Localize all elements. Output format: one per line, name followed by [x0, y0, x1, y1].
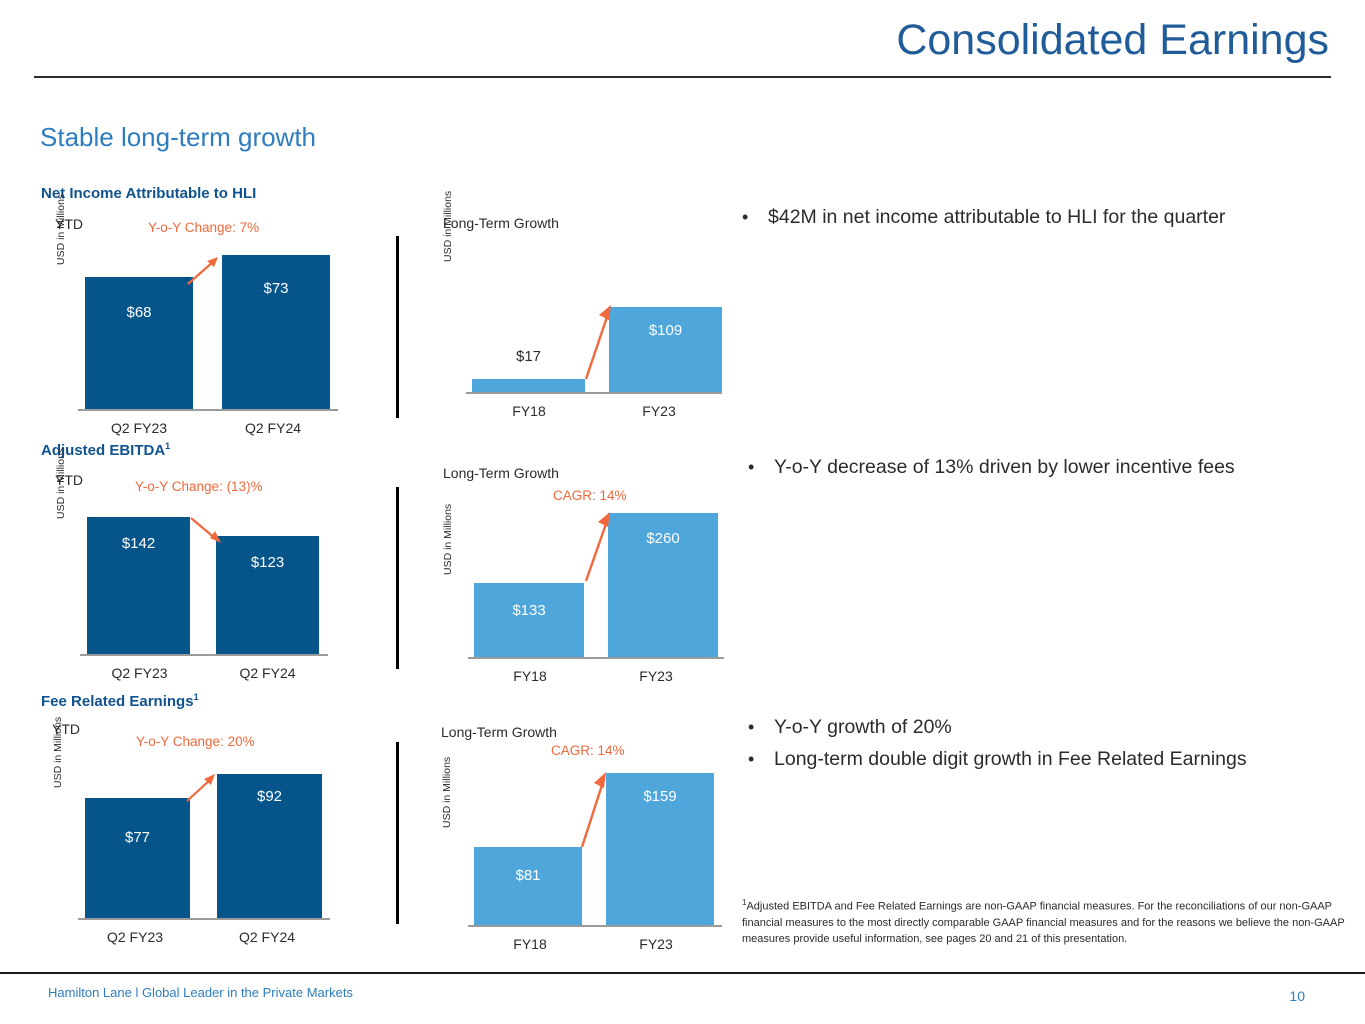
cagr-label-row3: CAGR: 14% [551, 743, 625, 758]
long-term-growth-label-row3: Long-Term Growth [441, 724, 557, 740]
y-axis-title-row2-ltg: USD in Millions [442, 504, 454, 575]
commentary-group-row1: • $42M in net income attributable to HLI… [742, 203, 1342, 235]
bullet-text: Y-o-Y growth of 20% [774, 713, 952, 741]
chart-fee-related-earnings-ytd: $77 $92 [85, 774, 322, 918]
cat-label-q2fy23-row3: Q2 FY23 [76, 929, 194, 945]
page-number: 10 [1289, 988, 1305, 1004]
bar-value-fy18-adjusted-ebitda: $133 [474, 602, 584, 619]
baseline-row1-ltg [466, 392, 722, 394]
bar-q2fy23-fee-related-earnings: $77 [85, 798, 190, 918]
bar-fy23-adjusted-ebitda: $260 [608, 513, 718, 657]
yoy-change-label-row2: Y-o-Y Change: (13)% [135, 479, 263, 494]
cat-label-fy23-row3: FY23 [598, 936, 714, 952]
baseline-row3-ytd [78, 918, 330, 920]
header-divider [34, 76, 1331, 78]
y-axis-title-row1-ltg: USD in Millions [442, 191, 454, 262]
bar-value-fy23-adjusted-ebitda: $260 [608, 530, 718, 547]
chart-title-net-income-text: Net Income Attributable to HLI [41, 185, 256, 202]
slide-canvas: Consolidated Earnings Stable long-term g… [0, 0, 1365, 1024]
cat-label-q2fy23-row2: Q2 FY23 [82, 665, 197, 681]
bar-value-q2fy23-fee-related-earnings: $77 [85, 829, 190, 846]
bar-fy23-net-income: $109 [609, 307, 722, 392]
panel-divider-row2 [396, 487, 399, 669]
bullet-item: • Y-o-Y growth of 20% [748, 713, 1288, 741]
bar-value-fy18-fee-related-earnings: $81 [474, 867, 582, 884]
bar-q2fy24-adjusted-ebitda: $123 [216, 536, 319, 654]
bullet-text: Long-term double digit growth in Fee Rel… [774, 745, 1247, 773]
bar-value-q2fy24-fee-related-earnings: $92 [217, 788, 322, 805]
chart-net-income-long-term: $17 $109 [472, 307, 722, 392]
y-axis-title-row3-ltg: USD in Millions [441, 757, 453, 828]
bar-value-fy23-net-income: $109 [609, 322, 722, 339]
bar-q2fy24-net-income: $73 [222, 255, 330, 409]
chart-title-fee-related-earnings-footnote-marker: 1 [194, 692, 199, 702]
chart-adjusted-ebitda-long-term: $133 $260 [474, 513, 718, 657]
bullet-item: • Y-o-Y decrease of 13% driven by lower … [748, 453, 1348, 481]
section-heading: Stable long-term growth [40, 122, 316, 153]
y-axis-title-row1-ytd: USD in Millions [55, 194, 67, 265]
baseline-row1-ytd [78, 409, 338, 411]
baseline-row2-ltg [468, 657, 724, 659]
footer-divider [0, 972, 1365, 974]
baseline-row2-ytd [80, 654, 328, 656]
chart-fee-related-earnings-long-term: $81 $159 [474, 773, 714, 925]
commentary-group-row2: • Y-o-Y decrease of 13% driven by lower … [748, 453, 1348, 485]
bar-value-q2fy23-adjusted-ebitda: $142 [87, 535, 190, 552]
bullet-dot-icon: • [742, 203, 768, 231]
footnote: 1Adjusted EBITDA and Fee Related Earning… [742, 895, 1347, 947]
bar-fy18-net-income: $17 [472, 379, 585, 392]
bar-value-fy23-fee-related-earnings: $159 [606, 788, 714, 805]
baseline-row3-ltg [468, 925, 722, 927]
bar-value-q2fy24-adjusted-ebitda: $123 [216, 554, 319, 571]
bullet-item: • $42M in net income attributable to HLI… [742, 203, 1342, 231]
bar-fy23-fee-related-earnings: $159 [606, 773, 714, 925]
chart-title-fee-related-earnings-text: Fee Related Earnings [41, 693, 194, 710]
cat-label-q2fy24-row1: Q2 FY24 [213, 420, 333, 436]
bullet-text: Y-o-Y decrease of 13% driven by lower in… [774, 453, 1235, 481]
cat-label-q2fy24-row2: Q2 FY24 [210, 665, 325, 681]
cat-label-fy18-row2: FY18 [472, 668, 588, 684]
commentary-group-row3: • Y-o-Y growth of 20% • Long-term double… [748, 713, 1288, 777]
chart-title-adjusted-ebitda-footnote-marker: 1 [165, 441, 170, 451]
bar-fy18-adjusted-ebitda: $133 [474, 583, 584, 657]
cat-label-fy18-row1: FY18 [470, 403, 588, 419]
bullet-dot-icon: • [748, 453, 774, 481]
cagr-label-row2: CAGR: 14% [553, 488, 627, 503]
bar-value-q2fy23-net-income: $68 [85, 304, 193, 321]
cat-label-fy18-row3: FY18 [472, 936, 588, 952]
bar-q2fy24-fee-related-earnings: $92 [217, 774, 322, 918]
cat-label-fy23-row2: FY23 [598, 668, 714, 684]
bar-value-q2fy24-net-income: $73 [222, 280, 330, 297]
bar-q2fy23-net-income: $68 [85, 277, 193, 409]
chart-adjusted-ebitda-ytd: $142 $123 [87, 517, 319, 654]
chart-title-net-income: Net Income Attributable to HLI [41, 185, 256, 202]
y-axis-title-row3-ytd: USD in Millions [52, 717, 64, 788]
footnote-text: Adjusted EBITDA and Fee Related Earnings… [742, 901, 1344, 945]
long-term-growth-label-row2: Long-Term Growth [443, 465, 559, 481]
bullet-dot-icon: • [748, 745, 774, 773]
cat-label-fy23-row1: FY23 [600, 403, 718, 419]
cat-label-q2fy24-row3: Q2 FY24 [208, 929, 326, 945]
panel-divider-row1 [396, 236, 399, 418]
long-term-growth-label-row1: Long-Term Growth [443, 215, 559, 231]
chart-net-income-ytd: $68 $73 [85, 255, 330, 409]
bullet-dot-icon: • [748, 713, 774, 741]
bar-fy18-fee-related-earnings: $81 [474, 847, 582, 925]
chart-title-fee-related-earnings: Fee Related Earnings1 [41, 692, 199, 710]
panel-divider-row3 [396, 742, 399, 924]
y-axis-title-row2-ytd: USD in Millions [55, 448, 67, 519]
bullet-text: $42M in net income attributable to HLI f… [768, 203, 1225, 231]
yoy-change-label-row1: Y-o-Y Change: 7% [148, 220, 259, 235]
page-title: Consolidated Earnings [896, 16, 1329, 65]
cat-label-q2fy23-row1: Q2 FY23 [79, 420, 199, 436]
yoy-change-label-row3: Y-o-Y Change: 20% [136, 734, 255, 749]
bar-q2fy23-adjusted-ebitda: $142 [87, 517, 190, 654]
bullet-item: • Long-term double digit growth in Fee R… [748, 745, 1288, 773]
bar-value-fy18-net-income: $17 [472, 348, 585, 365]
footer-brand: Hamilton Lane l Global Leader in the Pri… [48, 985, 353, 1000]
